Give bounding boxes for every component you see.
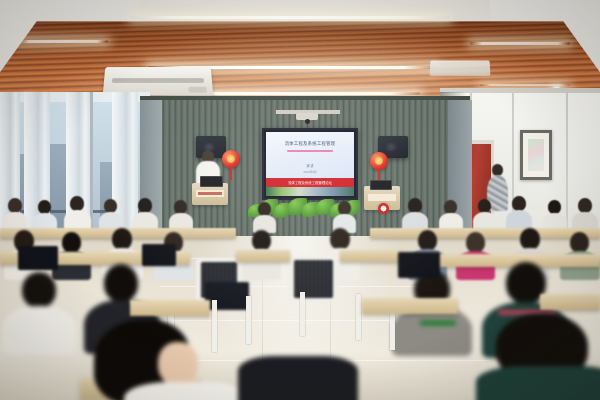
foreground-person-right [482,330,600,400]
chair-leg [246,296,251,344]
attendee-body [2,306,76,354]
chair-leg [356,294,361,340]
desk-row-front [362,298,458,314]
attendee-head [70,196,84,211]
foreground-person-left [84,320,234,400]
desk-row-front [540,294,600,310]
framed-artwork [520,130,552,180]
slide-date: 2023年8月 [303,170,316,174]
slide-title: 流体工程及系统工程管理 [285,141,336,147]
ceiling-led-strip [18,40,108,43]
red-lantern-left [222,150,240,168]
banner-text: 流体工程及系统工程管理论坛 [288,180,332,185]
attendee-head [104,199,117,213]
foreground-shirt [124,382,244,400]
attendee-head [578,198,592,213]
laptop-screen [398,252,440,278]
ceiling-led-strip [130,16,450,19]
attendee-head [112,228,132,250]
attendee-head [252,230,271,251]
presentation-slide: 流体工程及系统工程管理 演 讲 2023年8月 [266,132,354,178]
attendee-head [38,200,51,214]
attendee-head [8,198,22,213]
ceiling-ac-unit-secondary [430,60,491,75]
slide-accent-rule [287,150,333,152]
attendee-head [512,196,526,211]
desk-row-front [130,300,210,316]
foreground-shirt [238,356,358,400]
slide-subtitle: 演 讲 [306,163,313,168]
attendee-head [104,264,138,302]
laptop-screen [142,244,176,266]
attendee-head [444,200,457,214]
attendee-head [520,228,540,250]
attendee-head [408,198,422,213]
foreground-face [158,342,198,386]
attendee-head [174,200,187,214]
attendee-head [22,272,56,308]
foreground-person-center [238,344,358,400]
red-lantern-right [370,152,388,170]
laptop-screen [18,246,58,270]
photo-scene: 流体工程及系统工程管理 演 讲 2023年8月 流体工程及系统工程管理论坛 [0,0,600,400]
attendee-head [418,230,437,251]
foreground-shirt [476,366,600,400]
lantern-tassel-left [230,168,232,180]
attendee-head [138,198,152,213]
camera-lens-icon [305,119,310,124]
shirt-print-label [420,320,456,326]
chair-leg [300,292,305,336]
attendee-head [548,200,561,214]
ceiling-led-strip [470,42,570,45]
attendee-head [338,201,351,215]
attendee-head [330,228,350,250]
attendee-head [478,199,491,213]
